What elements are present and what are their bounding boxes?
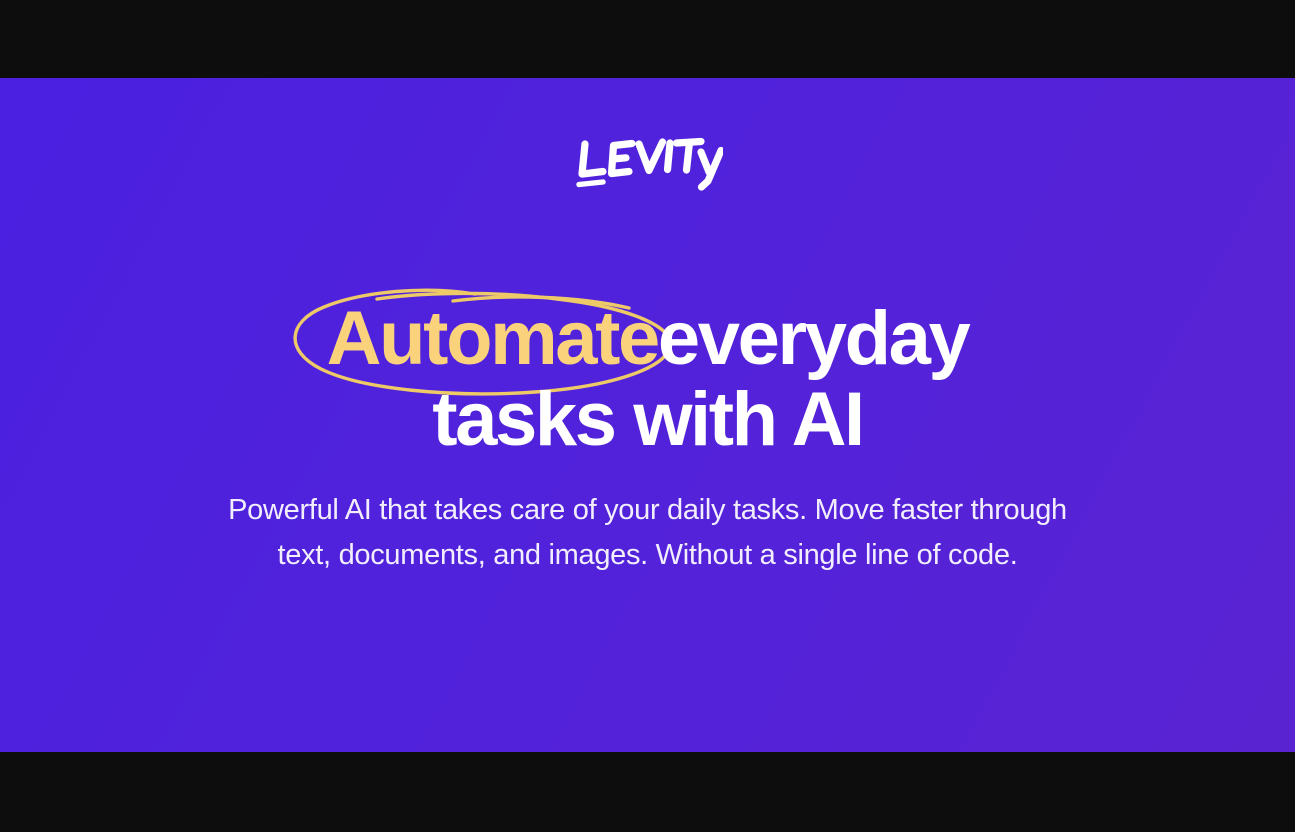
- headline-line-1-rest: everyday: [658, 296, 968, 381]
- subtitle-line-2: text, documents, and images. Without a s…: [0, 533, 1295, 578]
- hero-subtitle: Powerful AI that takes care of your dail…: [0, 488, 1295, 578]
- letterbox-bar-bottom: [0, 752, 1295, 832]
- brand-logo[interactable]: [0, 135, 1295, 197]
- headline-line-2: tasks with AI: [0, 384, 1295, 456]
- headline-accent-word: Automate: [327, 296, 658, 381]
- hero-section: Automateeveryday tasks with AI Powerful …: [0, 78, 1295, 752]
- letterbox-bar-top: [0, 0, 1295, 78]
- headline-line-1: Automateeveryday: [0, 303, 1295, 375]
- hero-headline: Automateeveryday tasks with AI: [0, 303, 1295, 456]
- subtitle-line-1: Powerful AI that takes care of your dail…: [0, 488, 1295, 533]
- page-root: Automateeveryday tasks with AI Powerful …: [0, 0, 1295, 832]
- levity-wordmark-icon: [573, 135, 723, 197]
